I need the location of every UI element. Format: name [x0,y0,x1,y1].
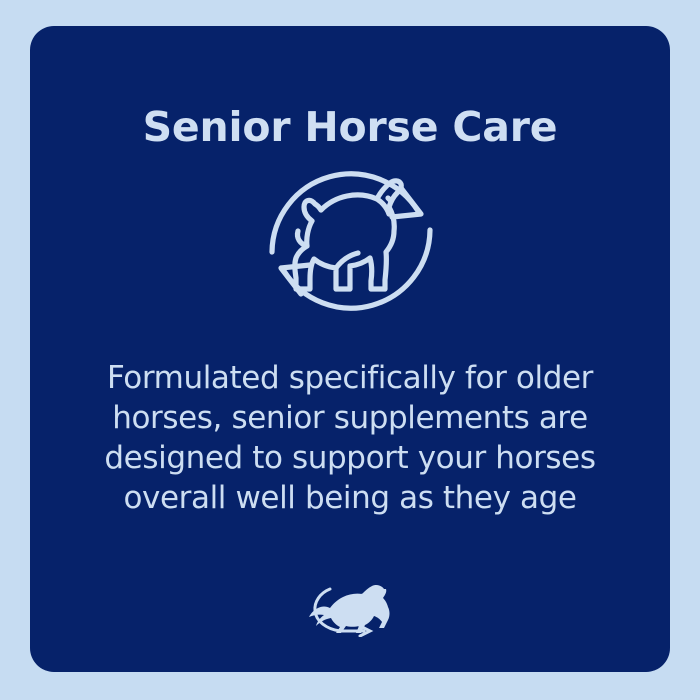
senior-horse-care-card: Senior Horse Care F [30,26,670,672]
horse-refresh-circle-icon [258,148,444,334]
body-copy: Formulated specifically for older horses… [50,358,650,518]
body-line: designed to support your horses [50,438,650,478]
body-line: horses, senior supplements are [50,398,650,438]
page-title: Senior Horse Care [30,102,670,152]
body-line: overall well being as they age [50,478,650,518]
poster-canvas: Senior Horse Care F [0,0,700,700]
galloping-horse-swoosh-logo [300,575,400,637]
body-line: Formulated specifically for older [50,358,650,398]
